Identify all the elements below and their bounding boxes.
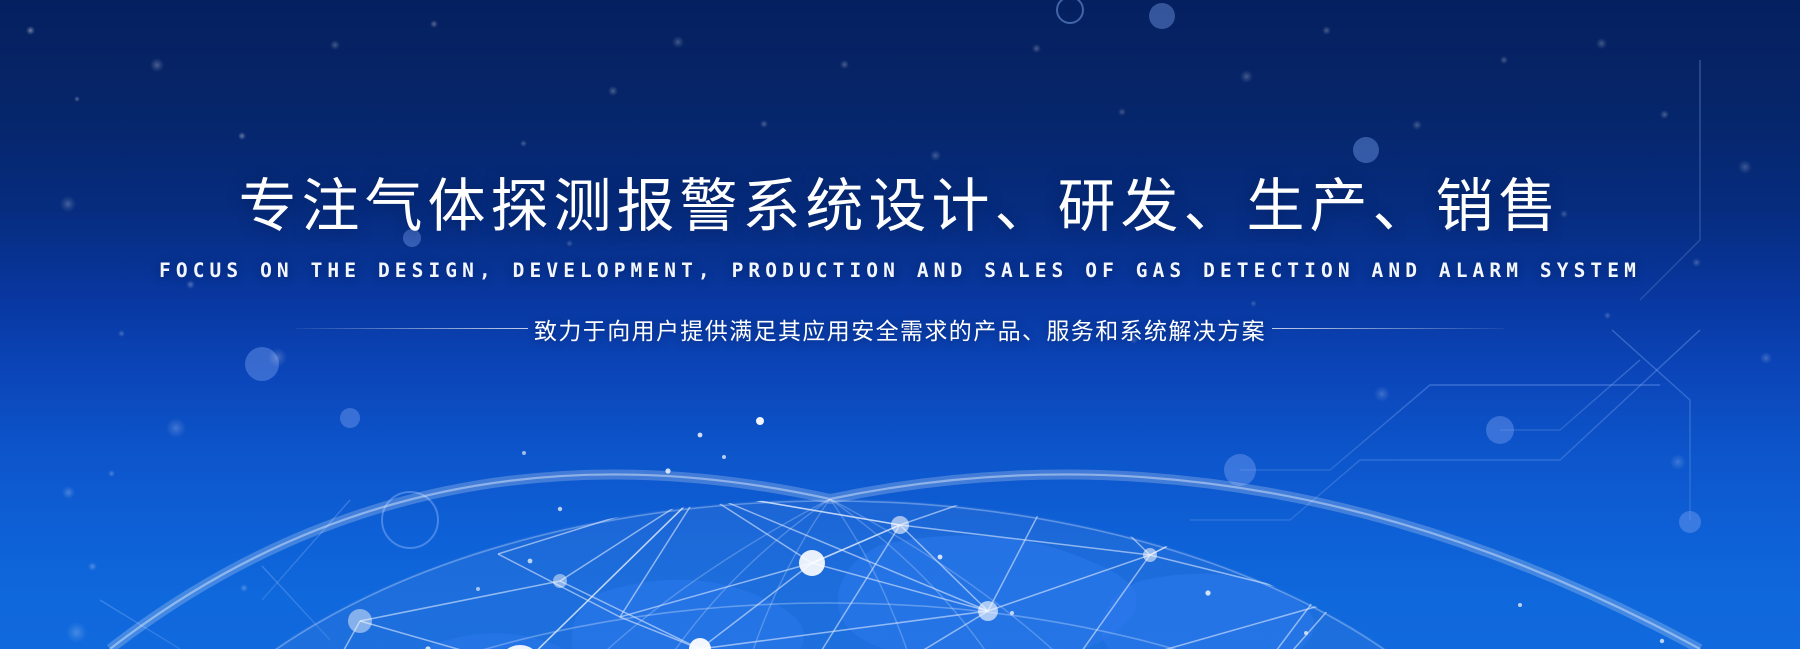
tagline-text: 致力于向用户提供满足其应用安全需求的产品、服务和系统解决方案 <box>528 312 1272 346</box>
network-globe-graphic <box>0 349 1800 649</box>
tagline-row: 致力于向用户提供满足其应用安全需求的产品、服务和系统解决方案 <box>0 312 1800 346</box>
subtitle-english: FOCUS ON THE DESIGN, DEVELOPMENT, PRODUC… <box>0 259 1800 282</box>
page-title: 专注气体探测报警系统设计、研发、生产、销售 <box>0 176 1800 239</box>
hero-banner: 专注气体探测报警系统设计、研发、生产、销售 FOCUS ON THE DESIG… <box>0 0 1800 649</box>
divider-line-right <box>1272 328 1504 329</box>
banner-content: 专注气体探测报警系统设计、研发、生产、销售 FOCUS ON THE DESIG… <box>0 176 1800 346</box>
divider-line-left <box>296 328 528 329</box>
